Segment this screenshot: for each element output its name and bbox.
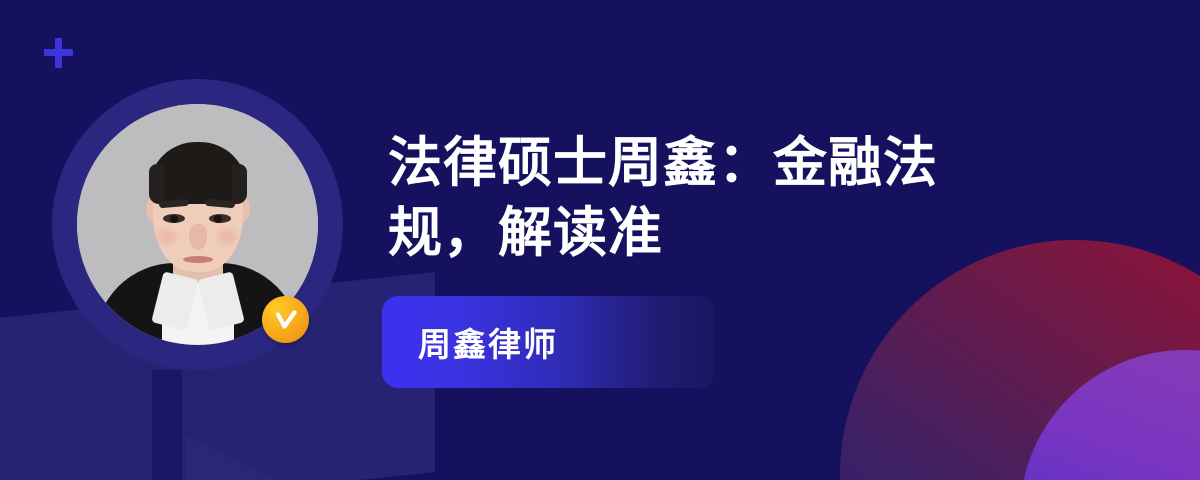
decor-circle-outer <box>840 240 1200 480</box>
banner-content: 法律硕士周鑫：金融法规，解读准 <box>388 128 1028 268</box>
decor-shape-vertical-bar <box>152 370 182 480</box>
decor-shape-diagonal-triangle <box>186 436 426 480</box>
lawyer-name-label: 周鑫律师 <box>418 318 558 366</box>
lawyer-name-badge[interactable]: 周鑫律师 <box>382 296 715 388</box>
verified-badge-icon <box>262 296 309 343</box>
profile-banner: 法律硕士周鑫：金融法规，解读准 周鑫律师 <box>0 0 1200 480</box>
plus-icon <box>44 38 73 68</box>
avatar[interactable] <box>52 79 343 370</box>
decor-circle-inner <box>1020 350 1200 480</box>
page-title: 法律硕士周鑫：金融法规，解读准 <box>388 128 1028 268</box>
